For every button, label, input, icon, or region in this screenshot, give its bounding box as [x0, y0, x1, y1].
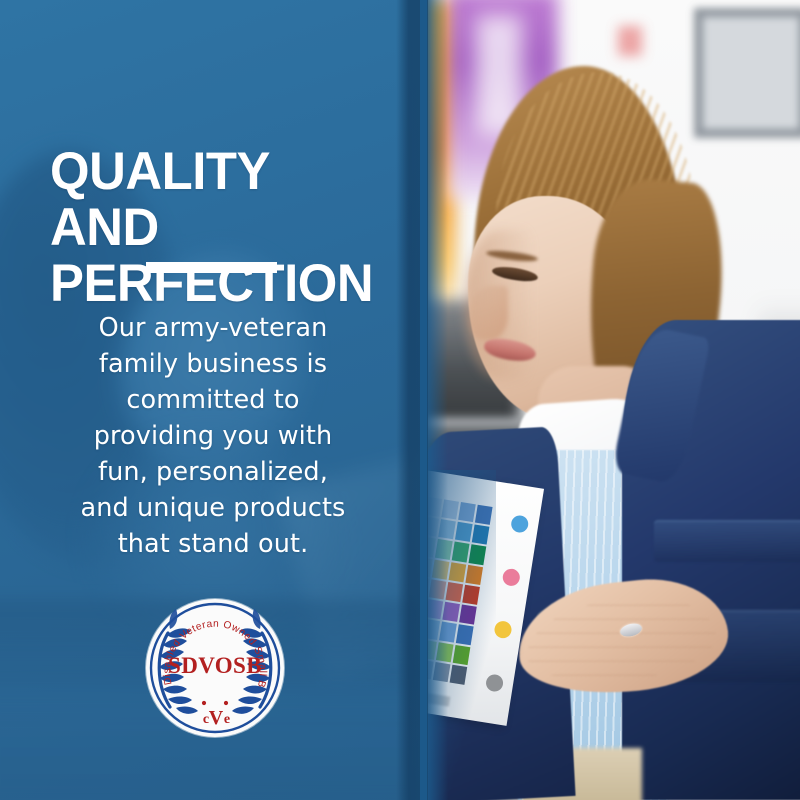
background-red-accent: [618, 26, 642, 56]
marketing-poster: QUALITY AND PERFECTION Our army-veteran …: [0, 0, 800, 800]
subject-jacket-pocket-upper: [654, 520, 800, 562]
seal-center-text: SDVOSB: [168, 653, 262, 678]
svg-text:e: e: [224, 712, 230, 727]
swatch-dot: [501, 567, 520, 586]
body-line-5: fun, personalized,: [22, 454, 404, 490]
background-picture-frame: [694, 8, 800, 138]
body-line-6: and unique products: [22, 490, 404, 526]
body-copy: Our army-veteran family business is comm…: [22, 310, 404, 562]
photo-corner-blue-overlay: [426, 470, 496, 800]
left-text-panel: QUALITY AND PERFECTION Our army-veteran …: [0, 0, 426, 800]
svg-text:V: V: [209, 707, 224, 729]
body-line-4: providing you with: [22, 418, 404, 454]
body-line-7: that stand out.: [22, 526, 404, 562]
seal-dot-left: [202, 701, 206, 705]
panel-divider-edge: [420, 0, 427, 800]
sdvosb-seal: Service Disabled Veteran Owned Small Bus…: [146, 599, 284, 737]
page-title: QUALITY AND PERFECTION: [50, 144, 386, 312]
body-line-3: committed to: [22, 382, 404, 418]
headline-line-1: QUALITY AND: [50, 144, 386, 256]
hero-photo: [426, 0, 800, 800]
body-line-2: family business is: [22, 346, 404, 382]
swatch-dot: [510, 514, 529, 533]
body-line-1: Our army-veteran: [22, 310, 404, 346]
seal-dot-right: [224, 701, 228, 705]
title-divider-rule: [146, 262, 277, 273]
